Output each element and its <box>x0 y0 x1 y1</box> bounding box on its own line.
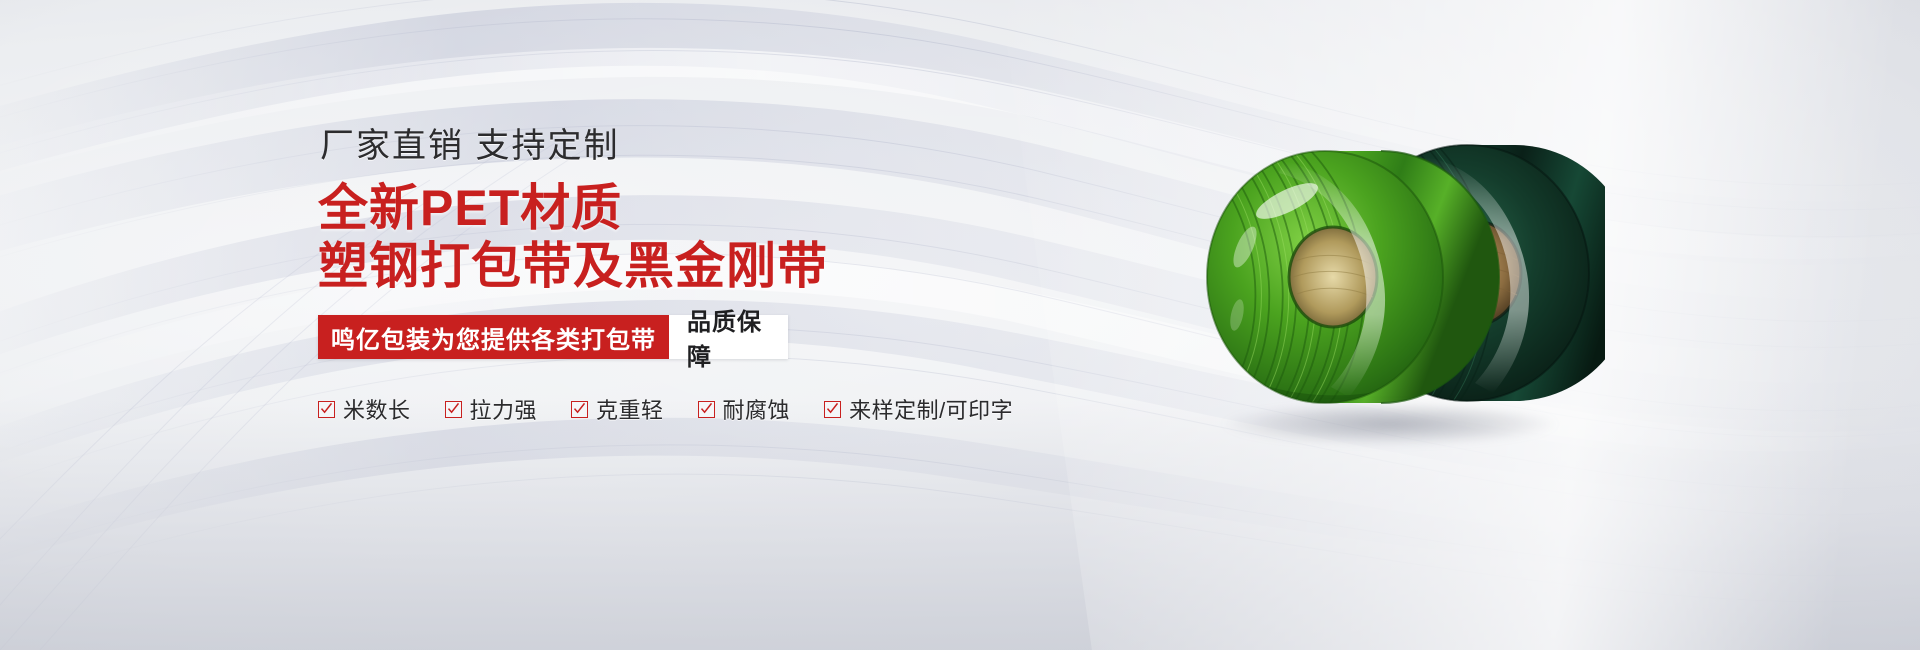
checkbox-checked-icon <box>445 401 462 418</box>
feature-item: 克重轻 <box>571 393 664 425</box>
feature-label: 耐腐蚀 <box>723 393 791 425</box>
banner-copy-block: 厂家直销 支持定制 全新PET材质 塑钢打包带及黑金刚带 鸣亿包装为您提供各类打… <box>318 128 1018 425</box>
checkbox-checked-icon <box>698 401 715 418</box>
checkbox-checked-icon <box>318 401 335 418</box>
page-title: 全新PET材质 塑钢打包带及黑金刚带 <box>318 179 1018 295</box>
feature-label: 克重轻 <box>596 393 664 425</box>
feature-label: 来样定制/可印字 <box>849 393 1013 425</box>
headline-line-1: 全新PET材质 <box>318 179 1018 237</box>
feature-list: 米数长 拉力强 克重轻 <box>318 393 1018 425</box>
eyebrow-text: 厂家直销 支持定制 <box>320 128 1018 165</box>
coil-drop-shadow <box>1165 395 1615 453</box>
promo-banner: 厂家直销 支持定制 全新PET材质 塑钢打包带及黑金刚带 鸣亿包装为您提供各类打… <box>0 0 1920 650</box>
feature-label: 米数长 <box>343 393 411 425</box>
slogan-primary: 鸣亿包装为您提供各类打包带 <box>318 315 669 359</box>
quality-badge: 品质保障 <box>669 315 788 359</box>
headline-line-2: 塑钢打包带及黑金刚带 <box>318 237 1018 295</box>
feature-item: 耐腐蚀 <box>698 393 791 425</box>
feature-item: 拉力强 <box>445 393 538 425</box>
floor-gradient <box>0 400 1920 650</box>
green-pet-strapping-coil <box>1203 151 1499 415</box>
feature-label: 拉力强 <box>470 393 538 425</box>
checkbox-checked-icon <box>571 401 588 418</box>
feature-item: 米数长 <box>318 393 411 425</box>
slogan-bar: 鸣亿包装为您提供各类打包带 品质保障 <box>318 315 788 359</box>
checkbox-checked-icon <box>824 401 841 418</box>
feature-item: 来样定制/可印字 <box>824 393 1013 425</box>
product-image <box>1175 105 1605 435</box>
